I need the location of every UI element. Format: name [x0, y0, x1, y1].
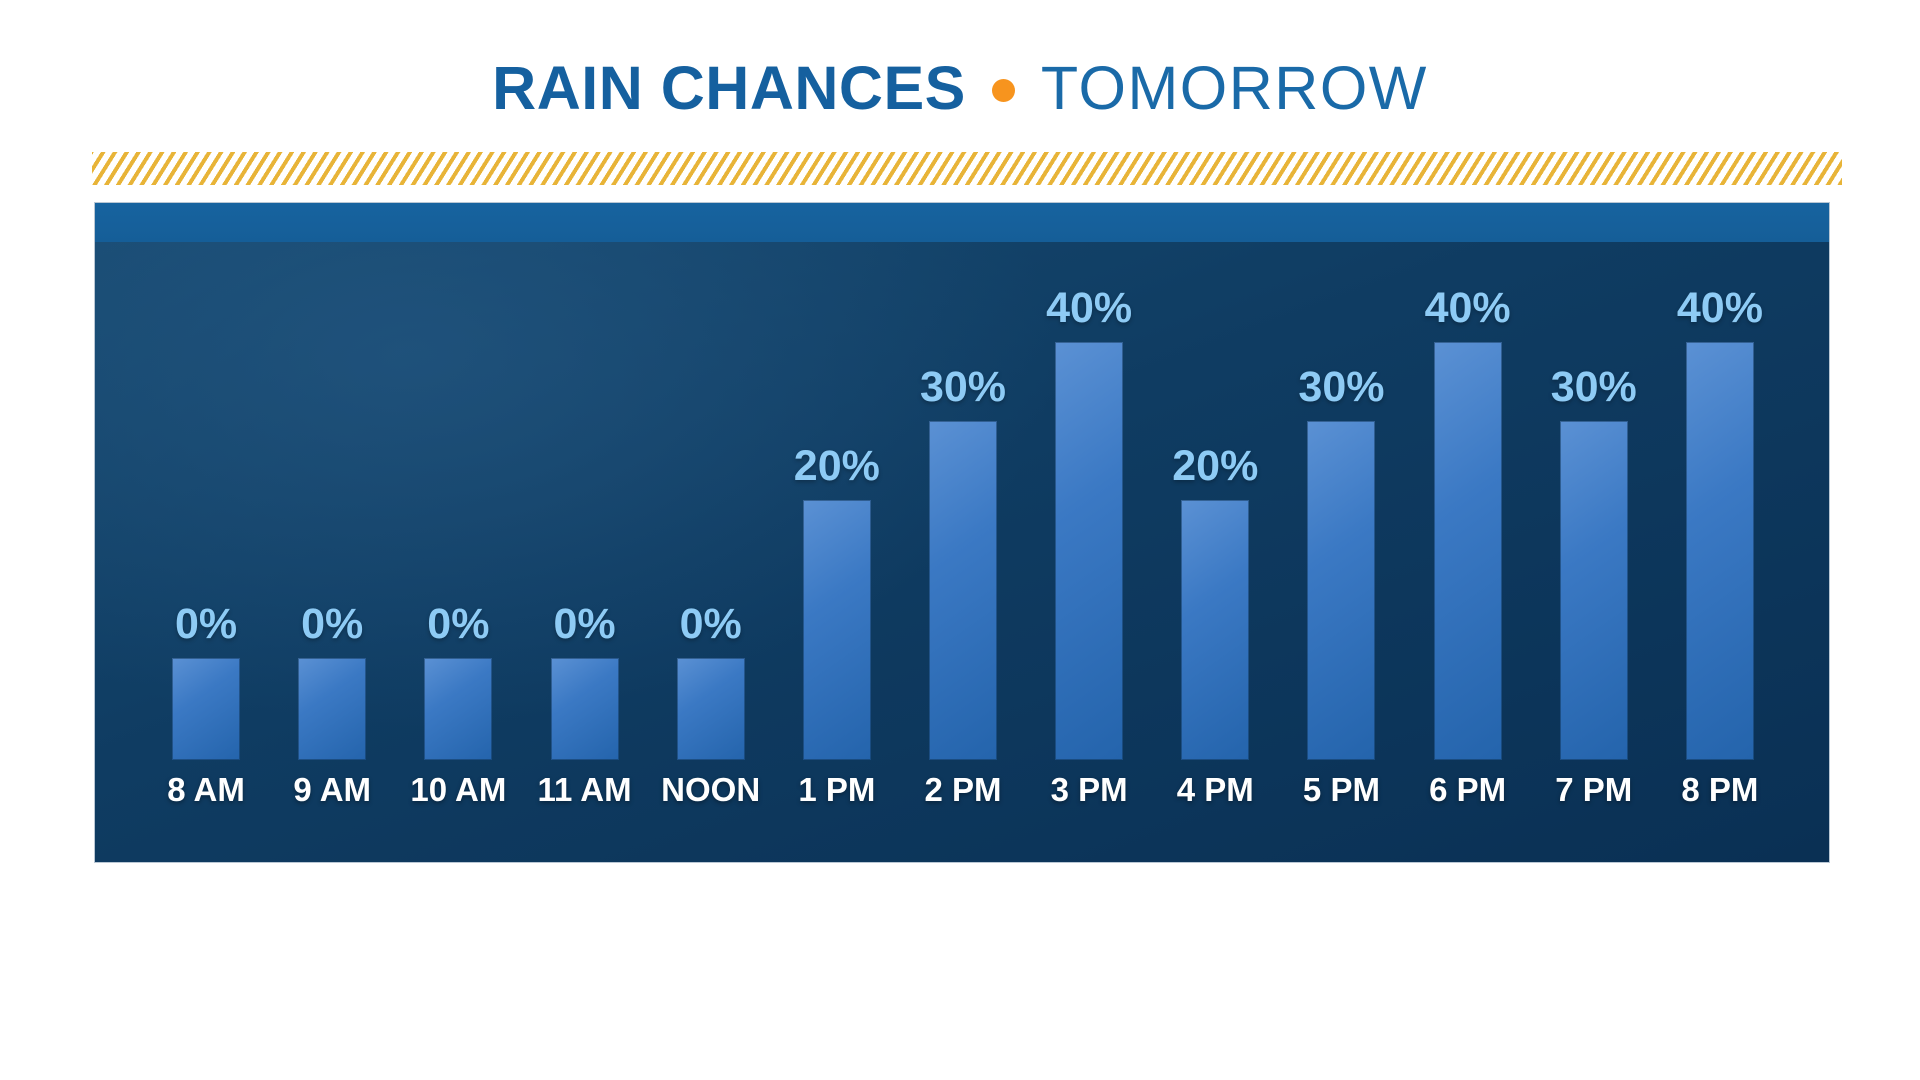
bar-time-label: 2 PM [924, 773, 1001, 806]
bar-value-label: 0% [427, 603, 489, 646]
bar-time-label: 7 PM [1555, 773, 1632, 806]
bar [1686, 342, 1754, 760]
bar-column: 0%8 AM [143, 603, 269, 863]
bar-time-label: 5 PM [1303, 773, 1380, 806]
bar-value-label: 0% [175, 603, 237, 646]
bar [551, 658, 619, 760]
bar-column: 30%2 PM [900, 366, 1026, 863]
bar-value-label: 30% [920, 366, 1006, 409]
bar-column: 0%9 AM [269, 603, 395, 863]
weather-graphic: RAIN CHANCES TOMORROW 0%8 AM0%9 AM0%10 A… [0, 0, 1920, 1080]
bar-column: 40%6 PM [1405, 287, 1531, 863]
bar-time-label: 8 AM [167, 773, 245, 806]
rain-chance-bar-chart: 0%8 AM0%9 AM0%10 AM0%11 AM0%NOON20%1 PM3… [95, 242, 1829, 863]
bar-time-label: 4 PM [1177, 773, 1254, 806]
bar-column: 30%5 PM [1278, 366, 1404, 863]
bar [1560, 421, 1628, 760]
bar-column: 20%4 PM [1152, 445, 1278, 863]
panel-header-bar [95, 203, 1829, 242]
bar-time-label: 10 AM [410, 773, 506, 806]
bar-column: 40%3 PM [1026, 287, 1152, 863]
bar-value-label: 0% [301, 603, 363, 646]
bar-column: 0%NOON [648, 603, 774, 863]
page-title: RAIN CHANCES TOMORROW [0, 58, 1920, 119]
bar-time-label: 9 AM [293, 773, 371, 806]
bar-time-label: 8 PM [1681, 773, 1758, 806]
bar [1307, 421, 1375, 760]
bar [803, 500, 871, 760]
bar-value-label: 30% [1298, 366, 1384, 409]
gold-stripe-divider [92, 152, 1842, 185]
bar-time-label: 3 PM [1051, 773, 1128, 806]
bar-value-label: 20% [794, 445, 880, 488]
bar-value-label: 0% [680, 603, 742, 646]
bar-value-label: 0% [553, 603, 615, 646]
chart-panel: 0%8 AM0%9 AM0%10 AM0%11 AM0%NOON20%1 PM3… [94, 202, 1830, 863]
orange-dot-icon [992, 79, 1015, 102]
bar-column: 0%10 AM [395, 603, 521, 863]
bars-area: 0%8 AM0%9 AM0%10 AM0%11 AM0%NOON20%1 PM3… [143, 320, 1781, 863]
bar-column: 20%1 PM [774, 445, 900, 863]
bar-column: 0%11 AM [521, 603, 647, 863]
bar-time-label: 11 AM [537, 773, 631, 806]
bar-time-label: NOON [661, 773, 760, 806]
bar [298, 658, 366, 760]
bar-value-label: 20% [1172, 445, 1258, 488]
title-main-text: RAIN CHANCES [492, 58, 966, 119]
bar-time-label: 1 PM [798, 773, 875, 806]
bar [172, 658, 240, 760]
bar-value-label: 40% [1046, 287, 1132, 330]
bar [677, 658, 745, 760]
bar-value-label: 40% [1425, 287, 1511, 330]
bar [1055, 342, 1123, 760]
bar-column: 30%7 PM [1531, 366, 1657, 863]
bar [1434, 342, 1502, 760]
bar [1181, 500, 1249, 760]
title-sub-text: TOMORROW [1041, 58, 1428, 119]
bar-time-label: 6 PM [1429, 773, 1506, 806]
bar-value-label: 40% [1677, 287, 1763, 330]
bar-column: 40%8 PM [1657, 287, 1783, 863]
bar-value-label: 30% [1551, 366, 1637, 409]
bar [424, 658, 492, 760]
bar [929, 421, 997, 760]
